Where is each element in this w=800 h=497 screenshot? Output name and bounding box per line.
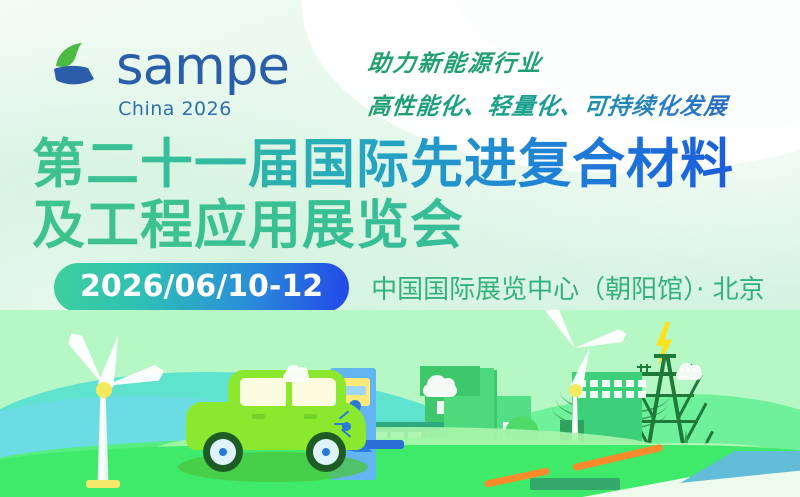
turbine-hub (569, 384, 582, 397)
slogan-line-2: 高性能化、轻量化、可持续化发展 (366, 87, 780, 121)
cloud-icon (283, 372, 309, 382)
event-venue-text: 中国国际展览中心（朝阳馆）· 北京 (371, 269, 765, 306)
turbine-hub (96, 382, 112, 398)
brand-wordmark: sampe (116, 40, 289, 93)
building-window (638, 391, 646, 398)
event-date-badge: 2026/06/10-12 (54, 263, 349, 312)
building-window (638, 380, 646, 387)
turbine-tower (98, 386, 109, 484)
event-title: 第二十一届国际先进复合材料 及工程应用展览会 (32, 134, 772, 257)
slogan-calligraphy: 助力新能源行业 高性能化、轻量化、可持续化发展 (368, 44, 778, 121)
wind-turbine-left-icon (38, 326, 168, 486)
car-door-handle (304, 414, 317, 419)
event-poster: sampe China 2026 助力新能源行业 高性能化、轻量化、可持续化发展… (0, 0, 800, 497)
car-door-handle (252, 414, 265, 419)
car-window-rear (292, 378, 336, 406)
sampe-leaf-logo-icon (48, 38, 104, 94)
cloud-icon (676, 370, 702, 380)
event-title-line-1: 第二十一届国际先进复合材料 (32, 134, 772, 195)
car-wheel-rear-hub (322, 448, 330, 456)
charge-spark (334, 423, 348, 425)
pylon-brace (636, 420, 698, 423)
event-title-line-2: 及工程应用展览会 (32, 195, 772, 256)
event-info-row: 2026/06/10-12 中国国际展览中心（朝阳馆）· 北京 (54, 263, 765, 312)
car-wheel-front-hub (219, 448, 227, 456)
car-window-front (240, 378, 286, 406)
pylon-brace (640, 394, 694, 397)
brand-subtitle: China 2026 (48, 98, 278, 120)
turbine-platform (530, 478, 620, 490)
illustration-scene (0, 310, 800, 497)
pylon-insulator-bar (637, 366, 651, 368)
brand-logo-block: sampe China 2026 (48, 38, 278, 120)
slogan-line-1: 助力新能源行业 (366, 44, 780, 78)
cloud-icon (423, 384, 457, 397)
turbine-base (86, 480, 120, 488)
